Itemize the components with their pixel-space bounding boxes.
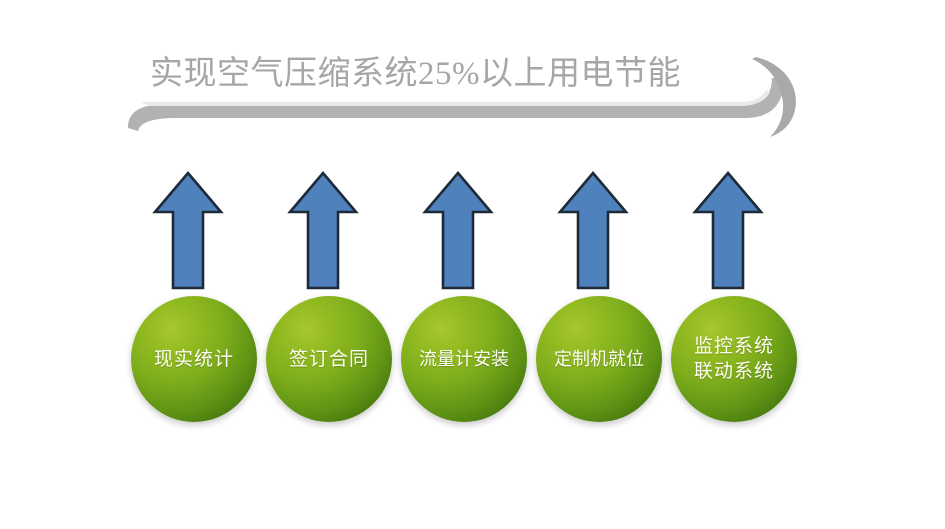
up-arrow-icon-5 [692, 170, 764, 292]
process-node-label: 流量计安装 [415, 347, 513, 372]
title-banner: 实现空气压缩系统25%以上用电节能 [0, 0, 945, 150]
process-node-label: 定制机就位 [550, 347, 648, 372]
process-node-label: 签订合同 [285, 347, 373, 372]
up-arrow-icon-3 [422, 170, 494, 292]
page-title: 实现空气压缩系统25%以上用电节能 [150, 50, 750, 98]
process-node-2[interactable]: 签订合同 [266, 296, 392, 422]
process-node-5[interactable]: 监控系统 联动系统 [671, 296, 797, 422]
up-arrow-icon-2 [287, 170, 359, 292]
up-arrow-icon-1 [152, 170, 224, 292]
process-node-1[interactable]: 现实统计 [131, 296, 257, 422]
process-node-label: 监控系统 联动系统 [690, 334, 778, 384]
process-node-4[interactable]: 定制机就位 [536, 296, 662, 422]
slide-canvas: 实现空气压缩系统25%以上用电节能 现实统计 签订合同 流量计安装 定制机就位 … [0, 0, 945, 529]
swoosh-crescent-path [752, 57, 796, 137]
up-arrow-icon-4 [557, 170, 629, 292]
process-node-3[interactable]: 流量计安装 [401, 296, 527, 422]
process-node-label: 现实统计 [150, 347, 238, 372]
